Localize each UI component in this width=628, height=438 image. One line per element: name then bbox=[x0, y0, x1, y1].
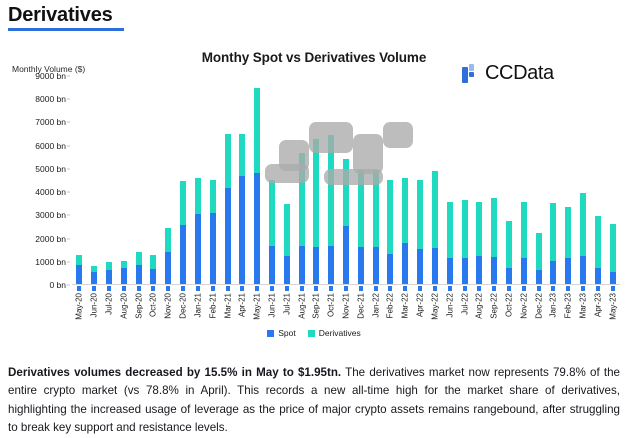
x-axis-tick-mark bbox=[477, 286, 481, 291]
bar-stack[interactable] bbox=[550, 76, 556, 284]
bar-stack[interactable] bbox=[195, 76, 201, 284]
x-axis-tick-mark bbox=[374, 286, 378, 291]
bar-slot[interactable] bbox=[561, 76, 576, 284]
bar-stack[interactable] bbox=[106, 76, 112, 284]
x-axis-slot: Jun-20 bbox=[87, 286, 102, 332]
bar-segment-derivatives[interactable] bbox=[210, 180, 216, 214]
bar-segment-spot[interactable] bbox=[195, 214, 201, 284]
bar-slot[interactable] bbox=[487, 76, 502, 284]
x-axis-slot: Apr-22 bbox=[413, 286, 428, 332]
x-axis-tick-label: Aug-21 bbox=[297, 293, 306, 319]
x-axis-tick-label: Dec-22 bbox=[534, 293, 543, 319]
x-axis: May-20Jun-20Jul-20Aug-20Sep-20Oct-20Nov-… bbox=[72, 286, 620, 332]
x-axis-slot: Oct-22 bbox=[502, 286, 517, 332]
bar-segment-spot[interactable] bbox=[269, 246, 275, 284]
x-axis-slot: Aug-20 bbox=[116, 286, 131, 332]
bar-stack[interactable] bbox=[328, 76, 334, 284]
bar-segment-derivatives[interactable] bbox=[313, 139, 319, 247]
x-axis-tick-mark bbox=[122, 286, 126, 291]
page-title: Derivatives bbox=[8, 3, 124, 27]
bar-series-group bbox=[72, 76, 620, 284]
bar-stack[interactable] bbox=[269, 76, 275, 284]
bar-segment-spot[interactable] bbox=[299, 246, 305, 284]
bar-segment-derivatives[interactable] bbox=[536, 233, 542, 270]
x-axis-tick-mark bbox=[181, 286, 185, 291]
bar-slot[interactable] bbox=[383, 76, 398, 284]
bar-segment-spot[interactable] bbox=[550, 261, 556, 284]
bar-segment-spot[interactable] bbox=[165, 252, 171, 285]
x-axis-tick-mark bbox=[329, 286, 333, 291]
x-axis-slot: Nov-20 bbox=[161, 286, 176, 332]
bar-segment-spot[interactable] bbox=[254, 173, 260, 284]
x-axis-tick-label: Sep-21 bbox=[312, 293, 321, 319]
x-axis-tick-label: Jun-20 bbox=[90, 293, 99, 317]
bar-slot[interactable] bbox=[546, 76, 561, 284]
y-axis-tick-mark bbox=[67, 192, 70, 193]
bar-segment-derivatives[interactable] bbox=[550, 203, 556, 261]
bar-slot[interactable] bbox=[279, 76, 294, 284]
x-axis-tick-label: May-20 bbox=[75, 293, 84, 320]
bar-segment-spot[interactable] bbox=[358, 247, 364, 284]
bar-segment-spot[interactable] bbox=[136, 265, 142, 284]
y-axis-tick-label: 0 bn bbox=[49, 280, 66, 290]
x-axis-tick-mark bbox=[107, 286, 111, 291]
x-axis-slot: May-23 bbox=[605, 286, 620, 332]
bar-stack[interactable] bbox=[121, 76, 127, 284]
x-axis-tick-label: Feb-23 bbox=[564, 293, 573, 318]
bar-segment-spot[interactable] bbox=[121, 268, 127, 284]
bar-segment-spot[interactable] bbox=[476, 256, 482, 284]
x-axis-slot: May-20 bbox=[72, 286, 87, 332]
y-axis-tick-mark bbox=[67, 145, 70, 146]
x-axis-tick-mark bbox=[344, 286, 348, 291]
y-axis-tick-label: 3000 bn bbox=[35, 210, 66, 220]
x-axis-tick-mark bbox=[492, 286, 496, 291]
page-header: Derivatives bbox=[8, 3, 124, 31]
x-axis-tick-label: Oct-20 bbox=[149, 293, 158, 317]
x-axis-tick-mark bbox=[388, 286, 392, 291]
bar-stack[interactable] bbox=[595, 76, 601, 284]
bar-segment-derivatives[interactable] bbox=[417, 180, 423, 250]
bar-slot[interactable] bbox=[250, 76, 265, 284]
y-axis-tick-label: 9000 bn bbox=[35, 71, 66, 81]
x-axis-slot: Jul-21 bbox=[279, 286, 294, 332]
bar-stack[interactable] bbox=[387, 76, 393, 284]
x-axis-slot: May-21 bbox=[250, 286, 265, 332]
x-axis-baseline bbox=[72, 284, 620, 285]
bar-stack[interactable] bbox=[447, 76, 453, 284]
bar-slot[interactable] bbox=[116, 76, 131, 284]
bar-segment-spot[interactable] bbox=[150, 269, 156, 284]
x-axis-tick-mark bbox=[137, 286, 141, 291]
bar-stack[interactable] bbox=[506, 76, 512, 284]
bar-stack[interactable] bbox=[402, 76, 408, 284]
x-axis-tick-mark bbox=[507, 286, 511, 291]
plot-wrapper: 9000 bn8000 bn7000 bn6000 bn5000 bn4000 … bbox=[0, 40, 628, 345]
x-axis-slot: Jan-23 bbox=[546, 286, 561, 332]
bar-segment-derivatives[interactable] bbox=[299, 153, 305, 246]
x-axis-slot: Aug-21 bbox=[294, 286, 309, 332]
y-axis-tick-label: 5000 bn bbox=[35, 164, 66, 174]
x-axis-tick-mark bbox=[611, 286, 615, 291]
x-axis-tick-mark bbox=[566, 286, 570, 291]
bar-slot[interactable] bbox=[339, 76, 354, 284]
bar-segment-derivatives[interactable] bbox=[136, 252, 142, 266]
bar-slot[interactable] bbox=[590, 76, 605, 284]
bar-stack[interactable] bbox=[521, 76, 527, 284]
bar-stack[interactable] bbox=[313, 76, 319, 284]
bar-segment-spot[interactable] bbox=[536, 270, 542, 284]
x-axis-tick-label: Sep-22 bbox=[490, 293, 499, 319]
legend-item[interactable]: Spot bbox=[267, 328, 296, 338]
bar-segment-derivatives[interactable] bbox=[610, 224, 616, 272]
bar-slot[interactable] bbox=[457, 76, 472, 284]
bar-segment-spot[interactable] bbox=[417, 249, 423, 284]
commentary-lead: Derivatives volumes decreased by 15.5% i… bbox=[8, 366, 341, 379]
x-axis-tick-label: Jun-21 bbox=[267, 293, 276, 317]
bar-segment-derivatives[interactable] bbox=[195, 178, 201, 214]
bar-segment-spot[interactable] bbox=[580, 256, 586, 284]
x-axis-tick-label: Feb-22 bbox=[386, 293, 395, 318]
bar-stack[interactable] bbox=[432, 76, 438, 284]
x-axis-slot: May-22 bbox=[428, 286, 443, 332]
bar-stack[interactable] bbox=[343, 76, 349, 284]
bar-segment-spot[interactable] bbox=[595, 268, 601, 284]
bar-segment-spot[interactable] bbox=[91, 272, 97, 284]
bar-segment-derivatives[interactable] bbox=[284, 204, 290, 256]
bar-slot[interactable] bbox=[205, 76, 220, 284]
y-axis-tick-mark bbox=[67, 122, 70, 123]
plot-area bbox=[72, 76, 620, 285]
bar-segment-derivatives[interactable] bbox=[239, 134, 245, 176]
x-axis-slot: Mar-21 bbox=[220, 286, 235, 332]
bar-slot[interactable] bbox=[413, 76, 428, 284]
x-axis-tick-mark bbox=[226, 286, 230, 291]
legend-label: Derivatives bbox=[319, 328, 361, 338]
bar-slot[interactable] bbox=[324, 76, 339, 284]
x-axis-slot: Feb-21 bbox=[205, 286, 220, 332]
bar-segment-spot[interactable] bbox=[432, 248, 438, 284]
y-axis-tick-label: 8000 bn bbox=[35, 94, 66, 104]
bar-stack[interactable] bbox=[210, 76, 216, 284]
bar-stack[interactable] bbox=[610, 76, 616, 284]
x-axis-slot: Apr-23 bbox=[590, 286, 605, 332]
x-axis-slot: Dec-20 bbox=[176, 286, 191, 332]
legend-swatch bbox=[267, 330, 274, 337]
x-axis-tick-label: Mar-23 bbox=[579, 293, 588, 318]
bar-stack[interactable] bbox=[358, 76, 364, 284]
bar-segment-spot[interactable] bbox=[402, 243, 408, 284]
bar-segment-spot[interactable] bbox=[343, 226, 349, 284]
x-axis-tick-mark bbox=[314, 286, 318, 291]
x-axis-tick-label: Dec-20 bbox=[179, 293, 188, 319]
bar-segment-spot[interactable] bbox=[447, 258, 453, 284]
bar-segment-spot[interactable] bbox=[225, 188, 231, 284]
x-axis-slot: Feb-23 bbox=[561, 286, 576, 332]
bar-stack[interactable] bbox=[254, 76, 260, 284]
bar-segment-derivatives[interactable] bbox=[328, 135, 334, 245]
bar-segment-derivatives[interactable] bbox=[432, 171, 438, 248]
x-axis-tick-label: May-22 bbox=[430, 293, 439, 320]
bar-segment-spot[interactable] bbox=[610, 272, 616, 284]
bar-segment-derivatives[interactable] bbox=[491, 198, 497, 257]
bar-slot[interactable] bbox=[87, 76, 102, 284]
x-axis-tick-label: Jan-21 bbox=[193, 293, 202, 317]
x-axis-tick-label: Mar-22 bbox=[401, 293, 410, 318]
bar-slot[interactable] bbox=[161, 76, 176, 284]
bar-segment-derivatives[interactable] bbox=[462, 200, 468, 258]
bar-segment-derivatives[interactable] bbox=[373, 170, 379, 247]
x-axis-tick-label: Apr-23 bbox=[593, 293, 602, 317]
bar-segment-derivatives[interactable] bbox=[387, 180, 393, 254]
x-axis-tick-mark bbox=[433, 286, 437, 291]
bar-stack[interactable] bbox=[580, 76, 586, 284]
y-axis-tick-mark bbox=[67, 76, 70, 77]
bar-segment-derivatives[interactable] bbox=[150, 255, 156, 269]
bar-segment-spot[interactable] bbox=[521, 258, 527, 284]
x-axis-tick-mark bbox=[166, 286, 170, 291]
x-axis-tick-label: May-21 bbox=[253, 293, 262, 320]
bar-stack[interactable] bbox=[565, 76, 571, 284]
x-axis-slot: Sep-20 bbox=[131, 286, 146, 332]
bar-slot[interactable] bbox=[131, 76, 146, 284]
bar-slot[interactable] bbox=[309, 76, 324, 284]
bar-slot[interactable] bbox=[576, 76, 591, 284]
x-axis-tick-mark bbox=[403, 286, 407, 291]
chart-card: Monthy Spot vs Derivatives Volume CCData… bbox=[0, 40, 628, 345]
bar-stack[interactable] bbox=[150, 76, 156, 284]
x-axis-slot: Jun-22 bbox=[442, 286, 457, 332]
bar-slot[interactable] bbox=[472, 76, 487, 284]
bar-slot[interactable] bbox=[502, 76, 517, 284]
x-axis-tick-mark bbox=[522, 286, 526, 291]
x-axis-slot: Dec-22 bbox=[531, 286, 546, 332]
y-axis-tick-mark bbox=[67, 238, 70, 239]
bar-stack[interactable] bbox=[462, 76, 468, 284]
x-axis-slot: Mar-22 bbox=[398, 286, 413, 332]
x-axis-tick-mark bbox=[596, 286, 600, 291]
x-axis-tick-label: Nov-21 bbox=[342, 293, 351, 319]
x-axis-tick-label: Oct-22 bbox=[504, 293, 513, 317]
bar-segment-spot[interactable] bbox=[76, 265, 82, 284]
bar-segment-derivatives[interactable] bbox=[476, 202, 482, 257]
bar-segment-derivatives[interactable] bbox=[521, 202, 527, 259]
bar-slot[interactable] bbox=[353, 76, 368, 284]
bar-segment-derivatives[interactable] bbox=[565, 207, 571, 258]
x-axis-tick-label: Jul-21 bbox=[282, 293, 291, 315]
x-axis-tick-label: Aug-22 bbox=[475, 293, 484, 319]
x-axis-slot: Dec-21 bbox=[353, 286, 368, 332]
x-axis-tick-mark bbox=[196, 286, 200, 291]
bar-segment-spot[interactable] bbox=[387, 254, 393, 284]
x-axis-tick-mark bbox=[551, 286, 555, 291]
x-axis-tick-mark bbox=[359, 286, 363, 291]
bar-segment-spot[interactable] bbox=[313, 247, 319, 284]
bar-slot[interactable] bbox=[72, 76, 87, 284]
x-axis-slot: Sep-21 bbox=[309, 286, 324, 332]
x-axis-slot: Jan-21 bbox=[191, 286, 206, 332]
bar-segment-derivatives[interactable] bbox=[180, 181, 186, 225]
x-axis-tick-label: Nov-22 bbox=[519, 293, 528, 319]
x-axis-tick-mark bbox=[285, 286, 289, 291]
bar-segment-spot[interactable] bbox=[328, 246, 334, 284]
bar-stack[interactable] bbox=[165, 76, 171, 284]
bar-stack[interactable] bbox=[491, 76, 497, 284]
bar-segment-derivatives[interactable] bbox=[447, 202, 453, 259]
x-axis-tick-mark bbox=[151, 286, 155, 291]
bar-stack[interactable] bbox=[225, 76, 231, 284]
x-axis-tick-label: Jan-22 bbox=[371, 293, 380, 317]
x-axis-tick-label: Feb-21 bbox=[208, 293, 217, 318]
x-axis-tick-label: Oct-21 bbox=[327, 293, 336, 317]
x-axis-tick-mark bbox=[418, 286, 422, 291]
bar-slot[interactable] bbox=[531, 76, 546, 284]
bar-stack[interactable] bbox=[476, 76, 482, 284]
x-axis-slot: Nov-22 bbox=[516, 286, 531, 332]
bar-segment-spot[interactable] bbox=[210, 213, 216, 284]
x-axis-slot: Feb-22 bbox=[383, 286, 398, 332]
bar-slot[interactable] bbox=[294, 76, 309, 284]
bar-stack[interactable] bbox=[76, 76, 82, 284]
x-axis-slot: Oct-20 bbox=[146, 286, 161, 332]
x-axis-tick-mark bbox=[581, 286, 585, 291]
legend-item[interactable]: Derivatives bbox=[308, 328, 361, 338]
y-axis-tick-label: 2000 bn bbox=[35, 234, 66, 244]
bar-slot[interactable] bbox=[235, 76, 250, 284]
bar-slot[interactable] bbox=[442, 76, 457, 284]
bar-segment-spot[interactable] bbox=[565, 258, 571, 284]
bar-stack[interactable] bbox=[417, 76, 423, 284]
bar-slot[interactable] bbox=[398, 76, 413, 284]
x-axis-slot: Jan-22 bbox=[368, 286, 383, 332]
bar-segment-spot[interactable] bbox=[284, 256, 290, 284]
x-axis-tick-mark bbox=[77, 286, 81, 291]
x-axis-tick-label: Jul-20 bbox=[105, 293, 114, 315]
bar-slot[interactable] bbox=[516, 76, 531, 284]
y-axis-tick-label: 1000 bn bbox=[35, 257, 66, 267]
page-title-underline bbox=[8, 28, 124, 31]
bar-segment-derivatives[interactable] bbox=[225, 134, 231, 187]
bar-stack[interactable] bbox=[284, 76, 290, 284]
bar-segment-spot[interactable] bbox=[462, 258, 468, 284]
y-axis-tick-mark bbox=[67, 99, 70, 100]
bar-segment-derivatives[interactable] bbox=[106, 262, 112, 270]
bar-stack[interactable] bbox=[373, 76, 379, 284]
bar-segment-derivatives[interactable] bbox=[165, 228, 171, 251]
bar-slot[interactable] bbox=[428, 76, 443, 284]
x-axis-slot: Nov-21 bbox=[339, 286, 354, 332]
bar-slot[interactable] bbox=[220, 76, 235, 284]
x-axis-tick-label: Nov-20 bbox=[164, 293, 173, 319]
x-axis-tick-label: Aug-20 bbox=[119, 293, 128, 319]
x-axis-tick-label: Jul-22 bbox=[460, 293, 469, 315]
bar-slot[interactable] bbox=[368, 76, 383, 284]
y-axis-tick-mark bbox=[67, 168, 70, 169]
x-axis-slot: Sep-22 bbox=[487, 286, 502, 332]
bar-segment-derivatives[interactable] bbox=[402, 178, 408, 243]
x-axis-tick-mark bbox=[92, 286, 96, 291]
bar-segment-derivatives[interactable] bbox=[76, 255, 82, 265]
x-axis-tick-label: Apr-22 bbox=[416, 293, 425, 317]
y-axis-tick-mark bbox=[67, 215, 70, 216]
bar-slot[interactable] bbox=[102, 76, 117, 284]
x-axis-tick-mark bbox=[537, 286, 541, 291]
bar-segment-derivatives[interactable] bbox=[580, 193, 586, 256]
bar-slot[interactable] bbox=[265, 76, 280, 284]
x-axis-tick-label: Jan-23 bbox=[549, 293, 558, 317]
x-axis-tick-label: Mar-21 bbox=[223, 293, 232, 318]
bar-segment-derivatives[interactable] bbox=[254, 88, 260, 173]
bar-segment-derivatives[interactable] bbox=[595, 216, 601, 268]
x-axis-slot: Jul-22 bbox=[457, 286, 472, 332]
legend-label: Spot bbox=[278, 328, 296, 338]
bar-segment-derivatives[interactable] bbox=[121, 261, 127, 268]
y-axis-tick-label: 6000 bn bbox=[35, 141, 66, 151]
x-axis-slot: Apr-21 bbox=[235, 286, 250, 332]
bar-segment-derivatives[interactable] bbox=[506, 221, 512, 267]
y-axis-tick-label: 7000 bn bbox=[35, 117, 66, 127]
x-axis-tick-mark bbox=[211, 286, 215, 291]
x-axis-slot: Jul-20 bbox=[102, 286, 117, 332]
bar-stack[interactable] bbox=[239, 76, 245, 284]
commentary-paragraph: Derivatives volumes decreased by 15.5% i… bbox=[8, 364, 620, 438]
bar-segment-spot[interactable] bbox=[373, 247, 379, 284]
x-axis-slot: Jun-21 bbox=[265, 286, 280, 332]
bar-segment-spot[interactable] bbox=[180, 225, 186, 284]
x-axis-tick-mark bbox=[255, 286, 259, 291]
bar-stack[interactable] bbox=[299, 76, 305, 284]
x-axis-tick-label: May-23 bbox=[608, 293, 617, 320]
y-axis-tick-mark bbox=[67, 285, 70, 286]
x-axis-tick-label: Sep-20 bbox=[134, 293, 143, 319]
bar-segment-derivatives[interactable] bbox=[358, 170, 364, 247]
x-axis-tick-mark bbox=[463, 286, 467, 291]
x-axis-tick-mark bbox=[270, 286, 274, 291]
x-axis-tick-mark bbox=[448, 286, 452, 291]
bar-segment-spot[interactable] bbox=[106, 270, 112, 284]
bar-slot[interactable] bbox=[191, 76, 206, 284]
bar-stack[interactable] bbox=[180, 76, 186, 284]
bar-slot[interactable] bbox=[605, 76, 620, 284]
bar-stack[interactable] bbox=[136, 76, 142, 284]
x-axis-slot: Aug-22 bbox=[472, 286, 487, 332]
x-axis-tick-label: Jun-22 bbox=[445, 293, 454, 317]
bar-segment-spot[interactable] bbox=[506, 268, 512, 284]
x-axis-slot: Mar-23 bbox=[576, 286, 591, 332]
bar-slot[interactable] bbox=[146, 76, 161, 284]
bar-slot[interactable] bbox=[176, 76, 191, 284]
x-axis-tick-label: Dec-21 bbox=[356, 293, 365, 319]
y-axis: 9000 bn8000 bn7000 bn6000 bn5000 bn4000 … bbox=[18, 76, 70, 285]
x-axis-tick-label: Apr-21 bbox=[238, 293, 247, 317]
legend-swatch bbox=[308, 330, 315, 337]
bar-stack[interactable] bbox=[91, 76, 97, 284]
x-axis-slot: Oct-21 bbox=[324, 286, 339, 332]
x-axis-tick-mark bbox=[300, 286, 304, 291]
bar-segment-derivatives[interactable] bbox=[269, 180, 275, 246]
bar-segment-spot[interactable] bbox=[239, 176, 245, 284]
bar-segment-spot[interactable] bbox=[491, 257, 497, 284]
x-axis-tick-mark bbox=[240, 286, 244, 291]
bar-stack[interactable] bbox=[536, 76, 542, 284]
chart-legend: SpotDerivatives bbox=[0, 328, 628, 338]
y-axis-tick-mark bbox=[67, 261, 70, 262]
y-axis-tick-label: 4000 bn bbox=[35, 187, 66, 197]
bar-segment-derivatives[interactable] bbox=[343, 159, 349, 226]
